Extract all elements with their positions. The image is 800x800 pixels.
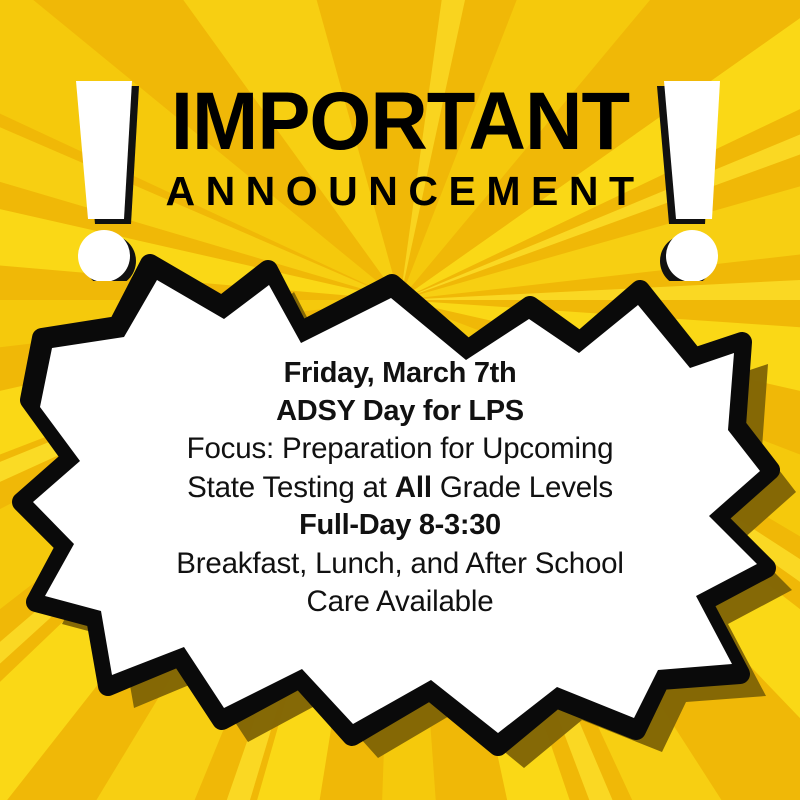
poster-header: IMPORTANT ANNOUNCEMENT — [0, 55, 800, 255]
callout-line-5: Full-Day 8-3:30 — [100, 507, 700, 545]
callout-line-1: Friday, March 7th — [100, 355, 700, 393]
callout-text-block: Friday, March 7th ADSY Day for LPS Focus… — [100, 355, 700, 621]
callout-line-2: ADSY Day for LPS — [100, 393, 700, 431]
header-title-block: IMPORTANT ANNOUNCEMENT — [0, 55, 800, 215]
callout-line-7: Care Available — [100, 583, 700, 621]
callout-line-4: State Testing at All Grade Levels — [100, 469, 700, 507]
callout-line-4-post: Grade Levels — [432, 471, 613, 504]
announcement-poster: IMPORTANT ANNOUNCEMENT Friday, March 7th… — [0, 0, 800, 800]
callout-line-6: Breakfast, Lunch, and After School — [100, 545, 700, 583]
callout-line-3: Focus: Preparation for Upcoming — [100, 430, 700, 468]
callout-line-4-pre: State Testing at — [187, 471, 395, 504]
page-subtitle: ANNOUNCEMENT — [0, 162, 800, 215]
callout-line-4-emphasis: All — [395, 471, 432, 504]
page-title: IMPORTANT — [12, 55, 788, 162]
